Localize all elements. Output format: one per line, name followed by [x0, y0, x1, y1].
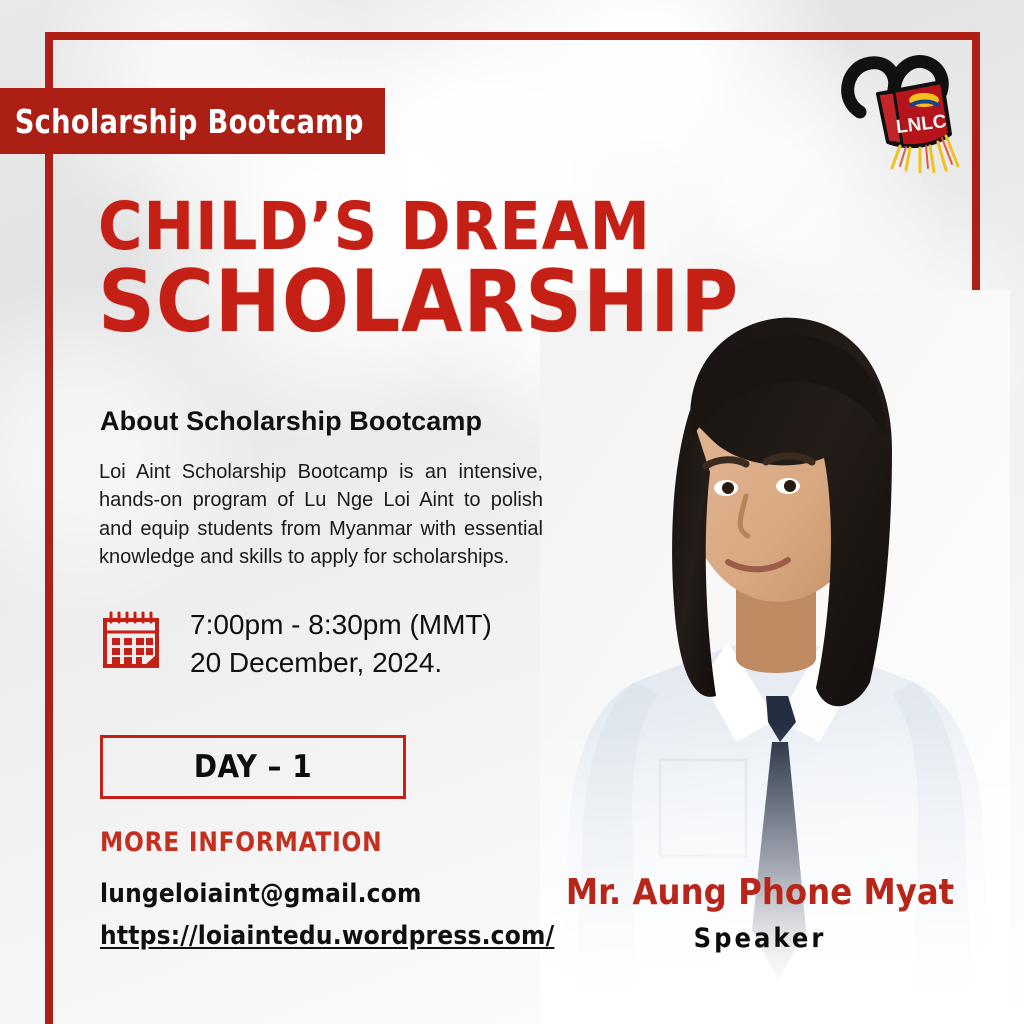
speaker-role: Speaker: [540, 923, 980, 954]
schedule-time: 7:00pm - 8:30pm (MMT): [190, 606, 492, 644]
day-badge-label: DAY – 1: [194, 749, 312, 785]
speaker-name: Mr. Aung Phone Myat: [540, 872, 980, 913]
day-badge: DAY – 1: [100, 735, 406, 799]
frame-border-left: [45, 32, 53, 1024]
ribbon-label: Scholarship Bootcamp: [0, 102, 364, 141]
contact-email[interactable]: lungeloiaint@gmail.com: [100, 879, 422, 909]
speaker-photo: [540, 290, 1010, 1024]
lnlc-bag-logo-icon: LNLC: [838, 38, 968, 173]
about-title: About Scholarship Bootcamp: [100, 406, 482, 437]
schedule-text: 7:00pm - 8:30pm (MMT) 20 December, 2024.: [190, 606, 492, 682]
contact-website-link[interactable]: https://loiaintedu.wordpress.com/: [100, 921, 554, 951]
headline-line-2: SCHOLARSHIP: [98, 262, 710, 343]
about-body: Loi Aint Scholarship Bootcamp is an inte…: [99, 458, 543, 572]
more-information-heading: MORE INFORMATION: [100, 827, 382, 858]
speaker-portrait-illustration: [540, 290, 1010, 1024]
scholarship-bootcamp-ribbon: Scholarship Bootcamp: [0, 88, 385, 154]
headline: CHILD’S DREAM SCHOLARSHIP: [98, 196, 698, 343]
calendar-icon: [100, 610, 162, 672]
lnlc-bag-logo: LNLC: [838, 38, 968, 173]
schedule-date: 20 December, 2024.: [190, 644, 492, 682]
schedule-row: 7:00pm - 8:30pm (MMT) 20 December, 2024.: [100, 606, 492, 682]
poster-canvas: Scholarship Bootcamp LNLC CHILD’S DREAM …: [0, 0, 1024, 1024]
headline-line-1: CHILD’S DREAM: [98, 196, 710, 258]
